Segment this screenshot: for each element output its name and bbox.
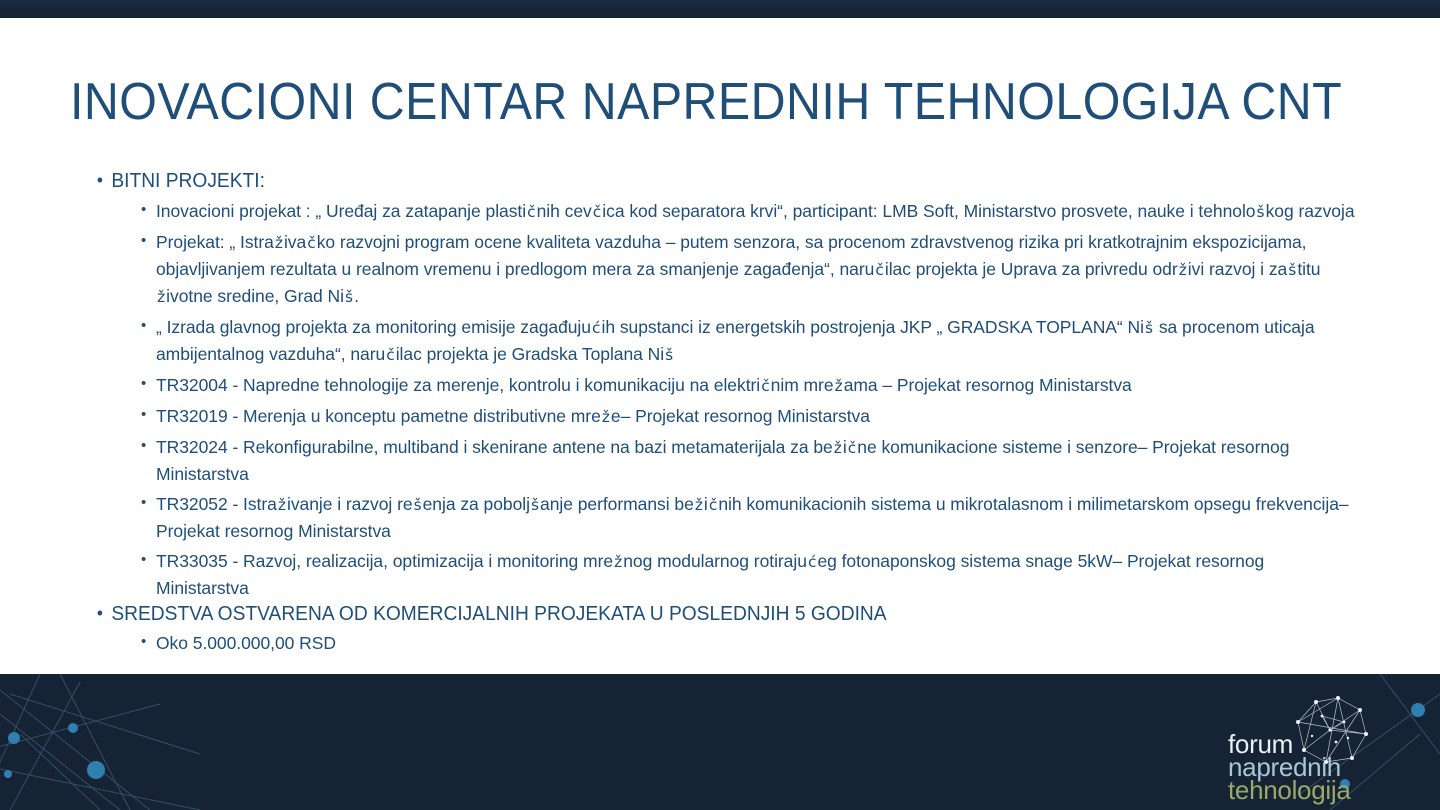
diacritic-glyph: š xyxy=(1255,203,1265,221)
logo-wordmark: forum naprednih tehnologija xyxy=(1228,733,1350,802)
bullet-marker: • xyxy=(97,167,103,193)
bullet-level2-label: TR32019 - Merenja u konceptu pametne dis… xyxy=(156,406,870,426)
logo: forum naprednih tehnologija xyxy=(1228,692,1378,802)
bullet-list-level2: •Oko 5.000.000,00 RSD xyxy=(95,630,1355,656)
diacritic-glyph: č xyxy=(760,377,771,395)
bullet-marker: • xyxy=(97,600,103,626)
diacritic-glyph: š xyxy=(664,346,674,364)
diacritic-glyph: ž xyxy=(601,408,611,426)
diacritic-glyph: š xyxy=(1287,261,1297,279)
diacritic-glyph: ž xyxy=(834,377,844,395)
bullet-level2: •TR33035 - Razvoj, realizacija, optimiza… xyxy=(140,548,1355,601)
bullet-level1-label: BITNI PROJEKTI: xyxy=(111,170,265,192)
bullet-marker: • xyxy=(141,313,146,339)
diacritic-glyph: ć xyxy=(807,553,818,571)
bullet-level1-label: SREDSTVA OSTVARENA OD KOMERCIJALNIH PROJ… xyxy=(111,603,886,625)
diacritic-glyph: ž xyxy=(274,234,284,252)
bullet-level2: •„ Izrada glavnog projekta za monitoring… xyxy=(140,314,1355,368)
network-graphic xyxy=(0,674,1440,810)
diacritic-glyph: č xyxy=(847,439,858,457)
diacritic-glyph: č xyxy=(526,203,537,221)
diacritic-glyph: ž xyxy=(694,496,704,514)
diacritic-glyph: š xyxy=(344,288,354,306)
diacritic-glyph: ć xyxy=(591,319,602,337)
bullet-level2-label: TR32024 - Rekonfigurabilne, multiband i … xyxy=(156,437,1289,484)
bullet-marker: • xyxy=(141,228,146,254)
bullet-level2-label: „ Izrada glavnog projekta za monitoring … xyxy=(156,317,1315,364)
bullet-level2-label: Projekat: „ Istraživačko razvojni progra… xyxy=(156,232,1320,306)
diacritic-glyph: ž xyxy=(277,496,287,514)
bullet-level2: •TR32019 - Merenja u konceptu pametne di… xyxy=(140,403,1355,430)
diacritic-glyph: š xyxy=(1144,319,1154,337)
bullet-marker: • xyxy=(141,629,146,655)
diacritic-glyph: č xyxy=(592,203,603,221)
diacritic-glyph: č xyxy=(385,346,396,364)
diacritic-glyph: č xyxy=(874,261,885,279)
bullet-level2-label: Oko 5.000.000,00 RSD xyxy=(156,633,336,653)
bullet-level2-label: TR33035 - Razvoj, realizacija, optimizac… xyxy=(156,551,1264,598)
diacritic-glyph: š xyxy=(413,496,423,514)
bullet-marker: • xyxy=(141,402,146,428)
diacritic-glyph: č xyxy=(708,496,719,514)
diacritic-glyph: ž xyxy=(833,439,843,457)
bullet-level2: •TR32024 - Rekonfigurabilne, multiband i… xyxy=(140,434,1355,487)
diacritic-glyph: ž xyxy=(1178,261,1188,279)
bullet-level2-label: TR32052 - Istraživanje i razvoj rešenja … xyxy=(156,494,1349,541)
top-accent-bar xyxy=(0,0,1440,18)
bullet-marker: • xyxy=(141,371,146,397)
slide-body: •BITNI PROJEKTI:•Inovacioni projekat : „… xyxy=(95,168,1355,656)
bullet-marker: • xyxy=(141,490,146,516)
bullet-level2: •Projekat: „ Istraživačko razvojni progr… xyxy=(140,229,1355,310)
diacritic-glyph: č xyxy=(306,234,317,252)
logo-line-tehnologija: tehnologija xyxy=(1228,779,1350,802)
diacritic-glyph: ž xyxy=(613,553,623,571)
bullet-level2-label: TR32004 - Napredne tehnologije za merenj… xyxy=(156,375,1132,395)
bullet-level2: •Oko 5.000.000,00 RSD xyxy=(140,630,1355,656)
bullet-list-level1: •BITNI PROJEKTI:•Inovacioni projekat : „… xyxy=(95,168,1355,656)
bullet-level2: •Inovacioni projekat : „ Uređaj za zatap… xyxy=(140,198,1355,225)
bullet-level1: •SREDSTVA OSTVARENA OD KOMERCIJALNIH PRO… xyxy=(95,601,1305,627)
bullet-level2: •TR32052 - Istraživanje i razvoj rešenja… xyxy=(140,491,1355,544)
bullet-level2: •TR32004 - Napredne tehnologije za meren… xyxy=(140,372,1355,399)
slide: INOVACIONI CENTAR NAPREDNIH TEHNOLOGIJA … xyxy=(0,0,1440,810)
bullet-level2-label: Inovacioni projekat : „ Uređaj za zatapa… xyxy=(156,201,1355,221)
bullet-marker: • xyxy=(141,547,146,573)
bullet-marker: • xyxy=(141,433,146,459)
bullet-level1: •BITNI PROJEKTI: xyxy=(95,168,1305,194)
bullet-list-level2: •Inovacioni projekat : „ Uređaj za zatap… xyxy=(95,198,1355,601)
diacritic-glyph: ž xyxy=(156,288,166,306)
diacritic-glyph: š xyxy=(530,496,540,514)
page-title: INOVACIONI CENTAR NAPREDNIH TEHNOLOGIJA … xyxy=(70,72,1279,132)
bullet-marker: • xyxy=(141,197,146,223)
footer-band xyxy=(0,674,1440,810)
